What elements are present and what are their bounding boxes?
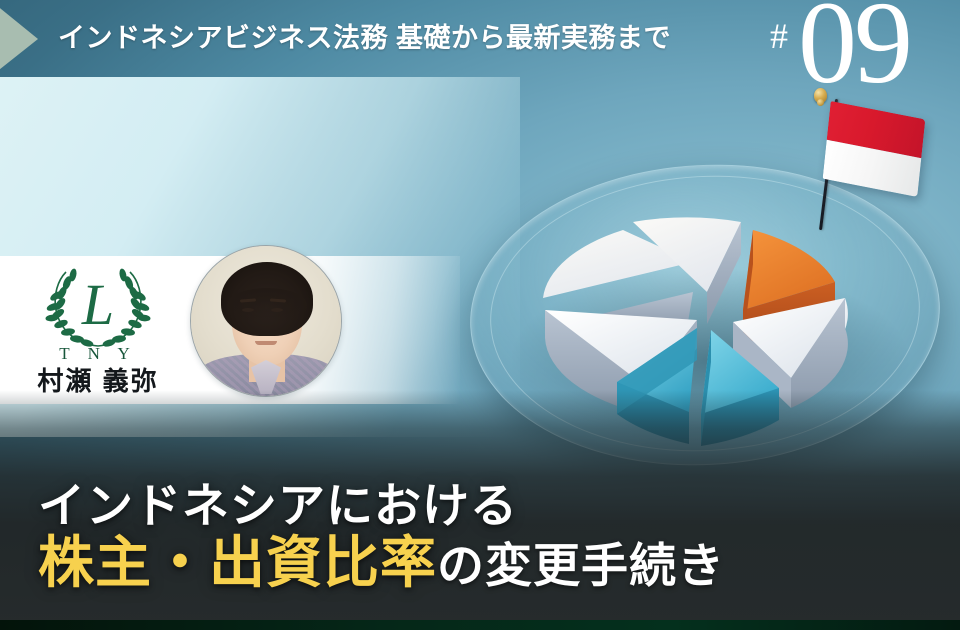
avatar-hair (221, 262, 313, 336)
cover-image: インドネシアビジネス法務 基礎から最新実務まで # 09 (0, 0, 960, 630)
header-bar: インドネシアビジネス法務 基礎から最新実務まで # (0, 0, 960, 77)
hash-symbol: # (770, 15, 788, 57)
laurel-wreath-l-monogram-icon: L (36, 262, 160, 350)
avatar-eye-right (271, 308, 283, 312)
series-title: インドネシアビジネス法務 基礎から最新実務まで (58, 16, 671, 55)
cover-title: インドネシアにおける 株主・出資比率の変更手続き (0, 480, 960, 594)
footer-strip (0, 620, 960, 630)
title-line-1: インドネシアにおける (38, 480, 960, 533)
svg-text:L: L (81, 272, 114, 337)
avatar-eye-left (242, 308, 254, 312)
title-highlight: 株主・出資比率 (38, 531, 437, 594)
avatar-mouth (255, 341, 277, 345)
title-suffix: の変更手続き (437, 539, 725, 592)
title-line-2: 株主・出資比率の変更手続き (38, 532, 960, 594)
author-avatar (190, 245, 342, 397)
right-arrow-icon (0, 0, 38, 77)
